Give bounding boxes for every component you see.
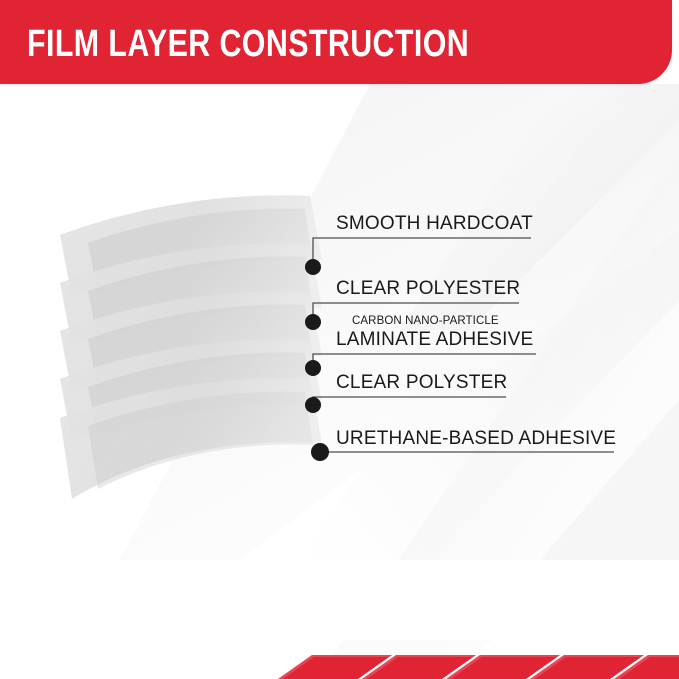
callout-group: SMOOTH HARDCOAT CLEAR POLYESTER CARBON N… bbox=[0, 0, 679, 679]
page-title: FILM LAYER CONSTRUCTION bbox=[27, 24, 469, 64]
callout-dot-3 bbox=[305, 360, 321, 376]
callout-label-laminate-adhesive: LAMINATE ADHESIVE bbox=[336, 329, 533, 351]
callout-dot-1 bbox=[305, 259, 321, 275]
stripe-group bbox=[278, 655, 679, 679]
hazard-stripe-footer bbox=[0, 643, 679, 679]
header-banner: FILM LAYER CONSTRUCTION bbox=[0, 0, 672, 84]
callout-label-urethane-based-adhesive: URETHANE-BASED ADHESIVE bbox=[336, 428, 616, 450]
infographic-canvas: FILM LAYER CONSTRUCTION SMOOTH HARDCOAT … bbox=[0, 0, 679, 679]
callout-label-smooth-hardcoat: SMOOTH HARDCOAT bbox=[336, 213, 533, 235]
callout-label-clear-polyester: CLEAR POLYESTER bbox=[336, 278, 520, 300]
callout-label-clear-polyster: CLEAR POLYSTER bbox=[336, 372, 507, 394]
callout-dot-4 bbox=[305, 397, 321, 413]
callout-dot-2 bbox=[305, 314, 321, 330]
callout-sublabel-carbon-nano-particle: CARBON NANO-PARTICLE bbox=[352, 315, 499, 328]
callout-dot-5 bbox=[311, 443, 329, 461]
